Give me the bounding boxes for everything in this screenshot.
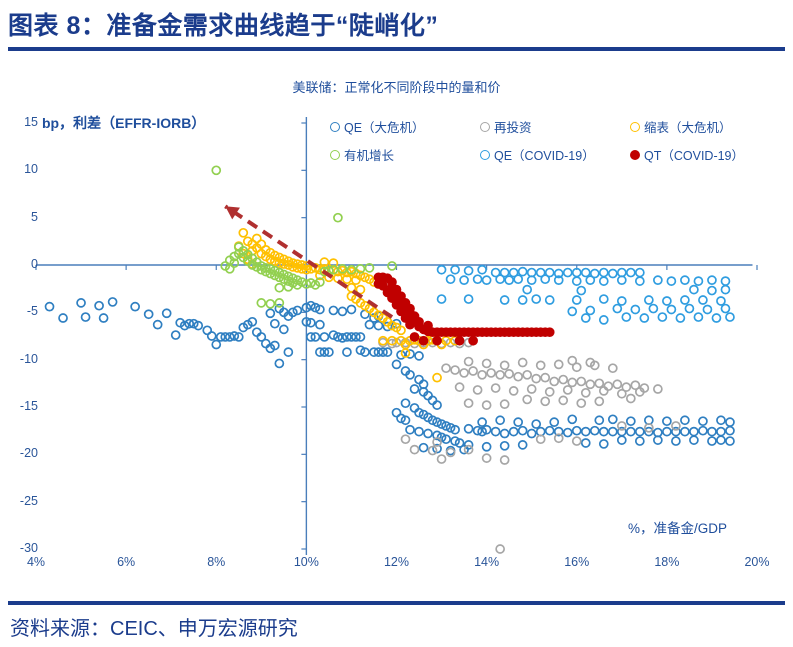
figure-heading-bar: 图表 8：准备金需求曲线趋于“陡峭化” (0, 0, 793, 48)
scatter-plot-canvas (0, 55, 793, 600)
chart-container: 美联储：正常化不同阶段中的量和价 bp，利差（EFFR-IORB） %，准备金/… (0, 55, 793, 600)
footer-divider (8, 601, 785, 605)
heading-divider (8, 47, 785, 51)
series-1 (379, 339, 680, 553)
page-title: 图表 8：准备金需求曲线趋于“陡峭化” (8, 6, 438, 42)
series-3 (212, 166, 396, 307)
series-2 (235, 229, 459, 382)
source-note: 资料来源：CEIC、申万宏源研究 (10, 612, 298, 641)
series-layer (46, 166, 734, 553)
series-4 (438, 266, 734, 324)
axes-layer (36, 117, 757, 555)
